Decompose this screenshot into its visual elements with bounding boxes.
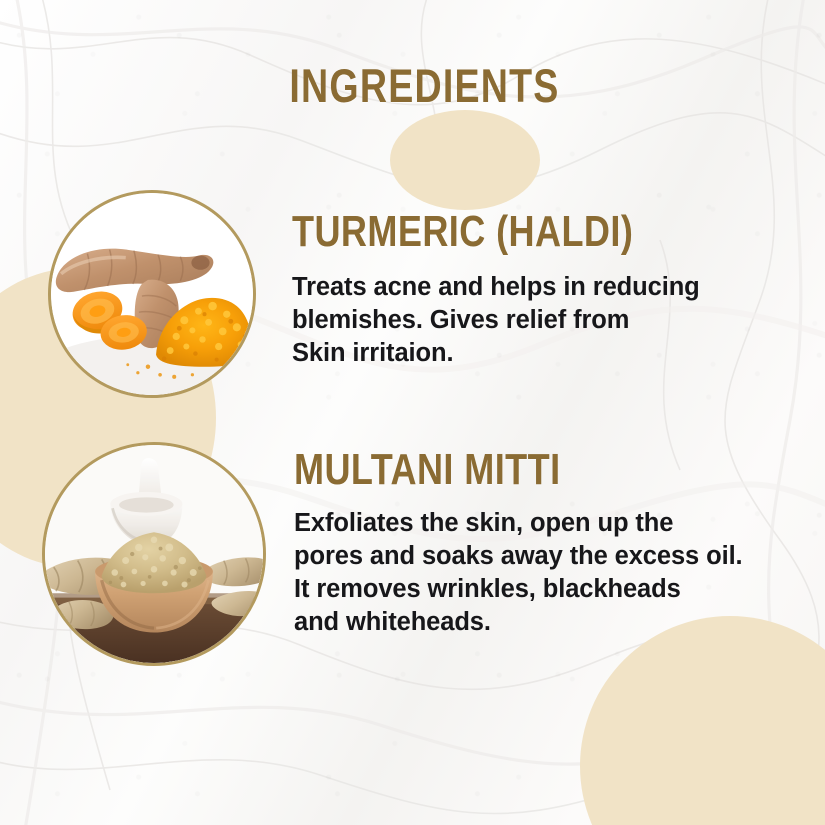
ingredient-description-multani-mitti: Exfoliates the skin, open up the pores a… [294,507,743,639]
mortar-pestle-and-clay-powder-icon [45,445,263,663]
turmeric-root-and-powder-icon [51,193,253,395]
turmeric-text-column: TURMERIC (HALDI) Treats acne and helps i… [292,190,708,370]
ingredient-description-turmeric: Treats acne and helps in reducing blemis… [292,271,708,370]
multani-mitti-text-column: MULTANI MITTI Exfoliates the skin, open … [294,442,743,639]
page-title: INGREDIENTS [83,58,743,113]
multani-mitti-photo [42,442,266,666]
ingredient-item-turmeric: TURMERIC (HALDI) Treats acne and helps i… [48,190,708,398]
turmeric-photo [48,190,256,398]
ingredient-title-multani-mitti: MULTANI MITTI [294,448,662,492]
ingredient-item-multani-mitti: MULTANI MITTI Exfoliates the skin, open … [42,442,743,666]
ingredients-poster: INGREDIENTS [0,0,825,825]
ingredient-title-turmeric: TURMERIC (HALDI) [292,210,633,254]
